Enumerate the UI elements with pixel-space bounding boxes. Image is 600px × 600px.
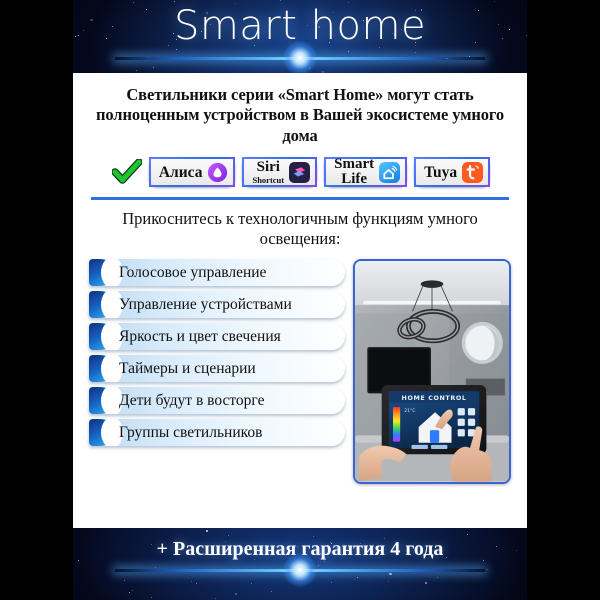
features-and-photo: Голосовое управлениеУправление устройств…: [87, 259, 513, 484]
subheading: Прикоснитесь к технологичным функциям ум…: [87, 209, 513, 249]
badge-siri-shortcut[interactable]: Siri Shortcut: [242, 157, 317, 187]
tuya-icon: [462, 162, 483, 183]
smart-life-house-icon: [379, 162, 400, 183]
feature-pill-label: Дети будут в восторге: [89, 392, 264, 410]
section-divider: [91, 197, 509, 200]
badge-siri-label: Siri: [257, 160, 280, 175]
tablet-screen-title: HOME CONTROL: [402, 394, 467, 402]
feature-pill-list: Голосовое управлениеУправление устройств…: [89, 259, 345, 484]
badge-siri-sublabel: Shortcut: [252, 176, 284, 185]
poster-canvas: Smart home Светильники серии «Smart Home…: [0, 0, 600, 600]
starfield-background: Smart home Светильники серии «Smart Home…: [73, 0, 527, 600]
content-card: Светильники серии «Smart Home» могут ста…: [73, 73, 527, 528]
smart-home-interior-photo: HOME CONTROL 21°C: [353, 259, 511, 484]
header-banner: Smart home: [73, 0, 527, 73]
lead-paragraph: Светильники серии «Smart Home» могут ста…: [87, 73, 513, 146]
feature-pill: Голосовое управление: [89, 259, 345, 286]
alice-assistant-icon: [207, 162, 228, 183]
badge-alice[interactable]: Алиса: [149, 157, 236, 187]
header-glow-core: [283, 41, 317, 75]
footer-banner: + Расширенная гарантия 4 года: [73, 528, 527, 600]
green-check-icon: [112, 159, 142, 185]
footer-glow-core: [283, 553, 317, 587]
badge-smartlife-label: Smart: [334, 157, 374, 172]
badge-smart-life[interactable]: Smart Life: [324, 157, 407, 187]
feature-pill-label: Управление устройствами: [89, 296, 292, 314]
feature-pill-label: Голосовое управление: [89, 264, 266, 282]
feature-pill-label: Таймеры и сценарии: [89, 360, 256, 378]
badge-tuya[interactable]: Tuya: [414, 157, 490, 187]
feature-pill: Яркость и цвет свечения: [89, 323, 345, 350]
badge-alice-label: Алиса: [159, 165, 203, 181]
tablet-temperature: 21°C: [404, 408, 415, 414]
siri-shortcuts-icon: [289, 162, 310, 183]
feature-pill-label: Яркость и цвет свечения: [89, 328, 281, 346]
badge-smartlife-sublabel: Life: [341, 172, 367, 187]
feature-pill: Дети будут в восторге: [89, 387, 345, 414]
ecosystem-badge-row: Алиса: [87, 157, 513, 187]
feature-pill: Управление устройствами: [89, 291, 345, 318]
badge-tuya-label: Tuya: [424, 165, 457, 181]
feature-pill: Таймеры и сценарии: [89, 355, 345, 382]
feature-pill-label: Группы светильников: [89, 424, 262, 442]
feature-pill: Группы светильников: [89, 419, 345, 446]
